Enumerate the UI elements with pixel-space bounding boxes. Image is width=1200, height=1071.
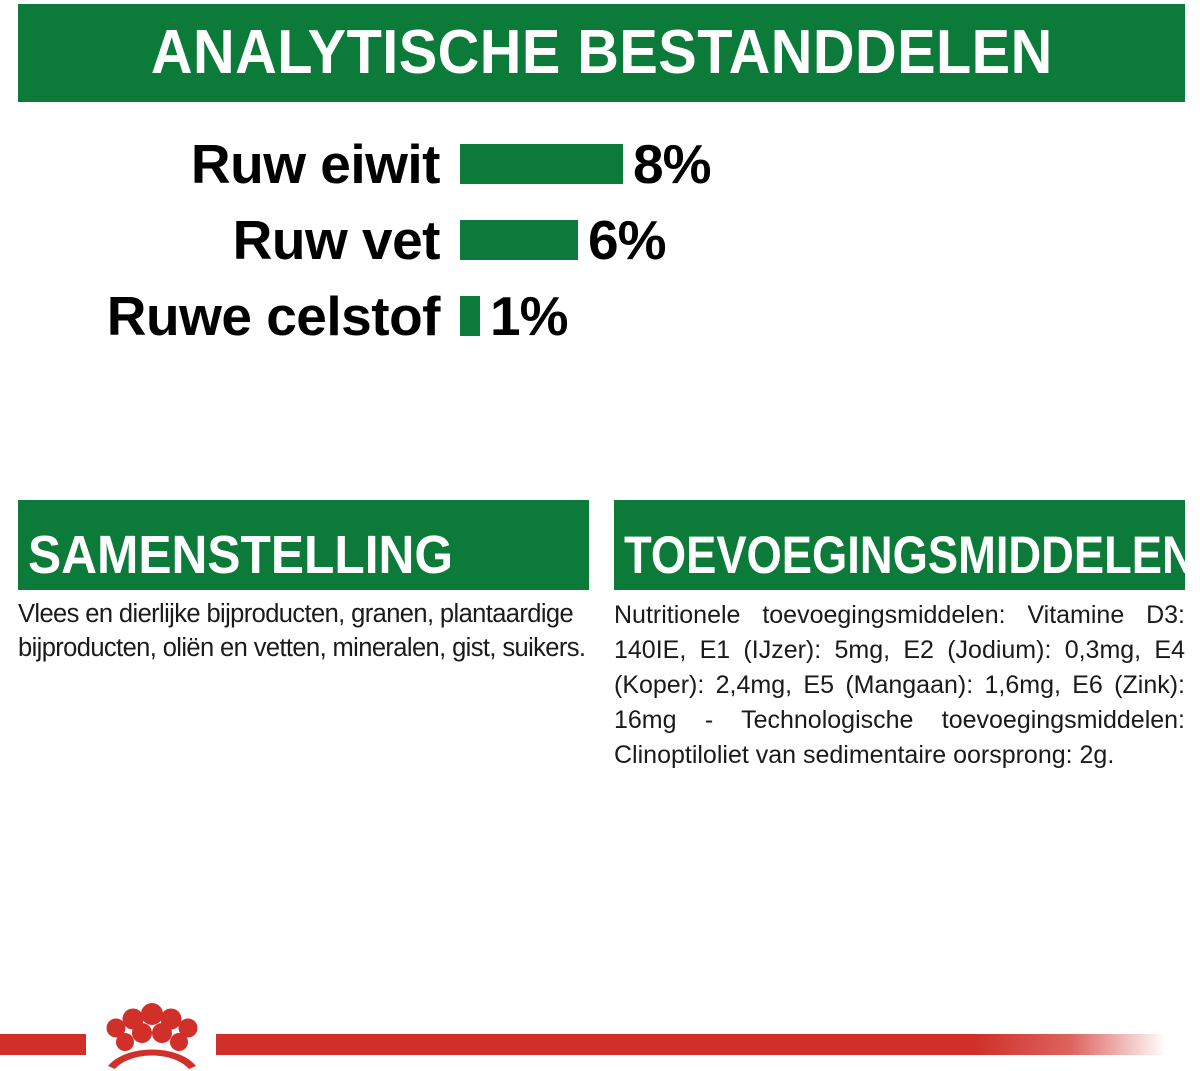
nutrition-row: Ruw eiwit 8% bbox=[0, 126, 1200, 202]
composition-header-label: SAMENSTELLING bbox=[28, 527, 453, 584]
nutrition-value: 8% bbox=[633, 137, 711, 192]
royal-canin-crown-icon bbox=[88, 1000, 216, 1071]
nutrition-chart: Ruw eiwit 8% Ruw vet 6% Ruwe celstof 1% bbox=[0, 126, 1200, 354]
nutrition-label: Ruw vet bbox=[0, 213, 440, 268]
nutrition-bar bbox=[460, 296, 480, 336]
nutrition-value: 6% bbox=[588, 213, 666, 268]
page-title: ANALYTISCHE BESTANDDELEN bbox=[151, 22, 1053, 84]
nutrition-bar-wrap: 8% bbox=[460, 137, 711, 192]
nutrition-label: Ruw eiwit bbox=[0, 137, 440, 192]
nutrition-row: Ruw vet 6% bbox=[0, 202, 1200, 278]
nutrition-label: Ruwe celstof bbox=[0, 289, 440, 344]
composition-header: SAMENSTELLING bbox=[18, 500, 589, 590]
brand-rule-left bbox=[0, 1034, 86, 1055]
footer-brand-bar bbox=[0, 1000, 1200, 1071]
info-sections: SAMENSTELLING Vlees en dierlijke bijprod… bbox=[18, 500, 1185, 773]
nutrition-bar bbox=[460, 144, 623, 184]
nutrition-bar bbox=[460, 220, 578, 260]
nutrition-bar-wrap: 1% bbox=[460, 289, 568, 344]
additives-header-label: TOEVOEGINGSMIDDELEN bbox=[624, 528, 1195, 584]
composition-section: SAMENSTELLING Vlees en dierlijke bijprod… bbox=[18, 500, 589, 773]
additives-section: TOEVOEGINGSMIDDELEN (/kg) Nutritionele t… bbox=[614, 500, 1185, 773]
additives-header: TOEVOEGINGSMIDDELEN (/kg) bbox=[614, 500, 1185, 590]
nutrition-value: 1% bbox=[490, 289, 568, 344]
nutrition-bar-wrap: 6% bbox=[460, 213, 666, 268]
analytical-constituents-header: ANALYTISCHE BESTANDDELEN bbox=[18, 4, 1185, 102]
nutrition-row: Ruwe celstof 1% bbox=[0, 278, 1200, 354]
additives-body: Nutritionele toevoegingsmiddelen: Vitami… bbox=[614, 598, 1185, 773]
brand-rule-right bbox=[216, 1034, 1166, 1055]
composition-body: Vlees en dierlijke bijproducten, granen,… bbox=[18, 598, 589, 665]
